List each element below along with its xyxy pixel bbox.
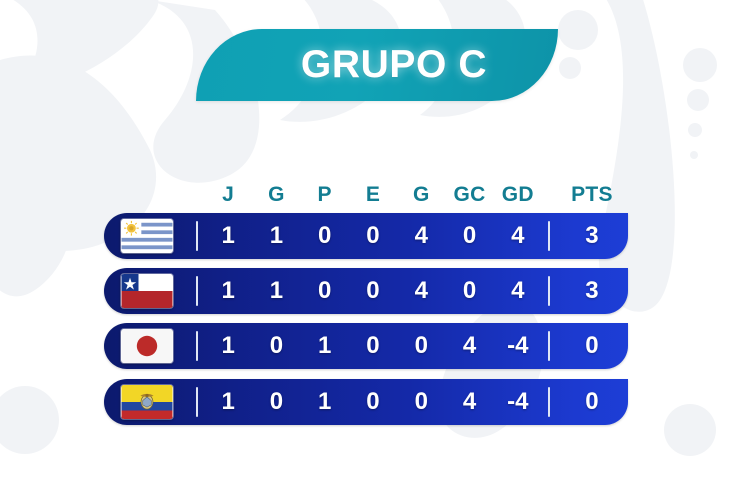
cell-points: 3 [556, 277, 628, 305]
group-banner: GRUPO C [196, 29, 558, 101]
team-flag-cell [104, 385, 190, 419]
row-separator-left [190, 331, 204, 361]
cell-played: 1 [204, 277, 252, 305]
cell-won: 0 [252, 332, 300, 360]
cell-lost: 1 [301, 332, 349, 360]
column-header-gf: G [397, 183, 445, 207]
table-row[interactable]: 1 0 1 0 0 4 -4 0 [104, 379, 628, 425]
uruguay-flag [121, 219, 173, 253]
cell-won: 1 [252, 277, 300, 305]
cell-points: 3 [556, 222, 628, 250]
cell-goal-diff: -4 [494, 332, 542, 360]
cell-played: 1 [204, 388, 252, 416]
ecuador-flag [121, 385, 173, 419]
cell-goals-for: 4 [397, 222, 445, 250]
cell-played: 1 [204, 222, 252, 250]
table-row[interactable]: 1 1 0 0 4 0 4 3 [104, 268, 628, 314]
row-separator-left [190, 387, 204, 417]
table-header-row: J G P E G GC GD PTS [104, 181, 628, 209]
row-separator-right [542, 387, 556, 417]
cell-drawn: 0 [349, 277, 397, 305]
cell-drawn: 0 [349, 388, 397, 416]
cell-goals-for: 0 [397, 388, 445, 416]
column-header-e: E [349, 183, 397, 207]
row-separator-left [190, 276, 204, 306]
table-row[interactable]: 1 0 1 0 0 4 -4 0 [104, 323, 628, 369]
chile-flag [121, 274, 173, 308]
row-separator-right [542, 276, 556, 306]
cell-goals-against: 4 [445, 388, 493, 416]
cell-lost: 1 [301, 388, 349, 416]
column-header-gd: GD [494, 183, 542, 207]
cell-goals-for: 4 [397, 277, 445, 305]
cell-points: 0 [556, 332, 628, 360]
cell-drawn: 0 [349, 222, 397, 250]
row-separator-right [542, 331, 556, 361]
cell-goals-for: 0 [397, 332, 445, 360]
column-header-g: G [252, 183, 300, 207]
cell-played: 1 [204, 332, 252, 360]
team-flag-cell [104, 329, 190, 363]
cell-goal-diff: -4 [494, 388, 542, 416]
japan-flag [121, 329, 173, 363]
cell-goals-against: 0 [445, 277, 493, 305]
cell-goal-diff: 4 [494, 222, 542, 250]
row-separator-right [542, 221, 556, 251]
column-header-gc: GC [445, 183, 493, 207]
cell-goal-diff: 4 [494, 277, 542, 305]
page-title: GRUPO C [196, 29, 558, 101]
row-separator-left [190, 221, 204, 251]
team-flag-cell [104, 274, 190, 308]
cell-won: 0 [252, 388, 300, 416]
cell-goals-against: 0 [445, 222, 493, 250]
table-row[interactable]: 1 1 0 0 4 0 4 3 [104, 213, 628, 259]
column-header-j: J [204, 183, 252, 207]
cell-lost: 0 [301, 222, 349, 250]
cell-won: 1 [252, 222, 300, 250]
cell-lost: 0 [301, 277, 349, 305]
column-header-pts: PTS [556, 183, 628, 207]
cell-points: 0 [556, 388, 628, 416]
cell-drawn: 0 [349, 332, 397, 360]
column-header-p: P [301, 183, 349, 207]
cell-goals-against: 4 [445, 332, 493, 360]
team-flag-cell [104, 219, 190, 253]
